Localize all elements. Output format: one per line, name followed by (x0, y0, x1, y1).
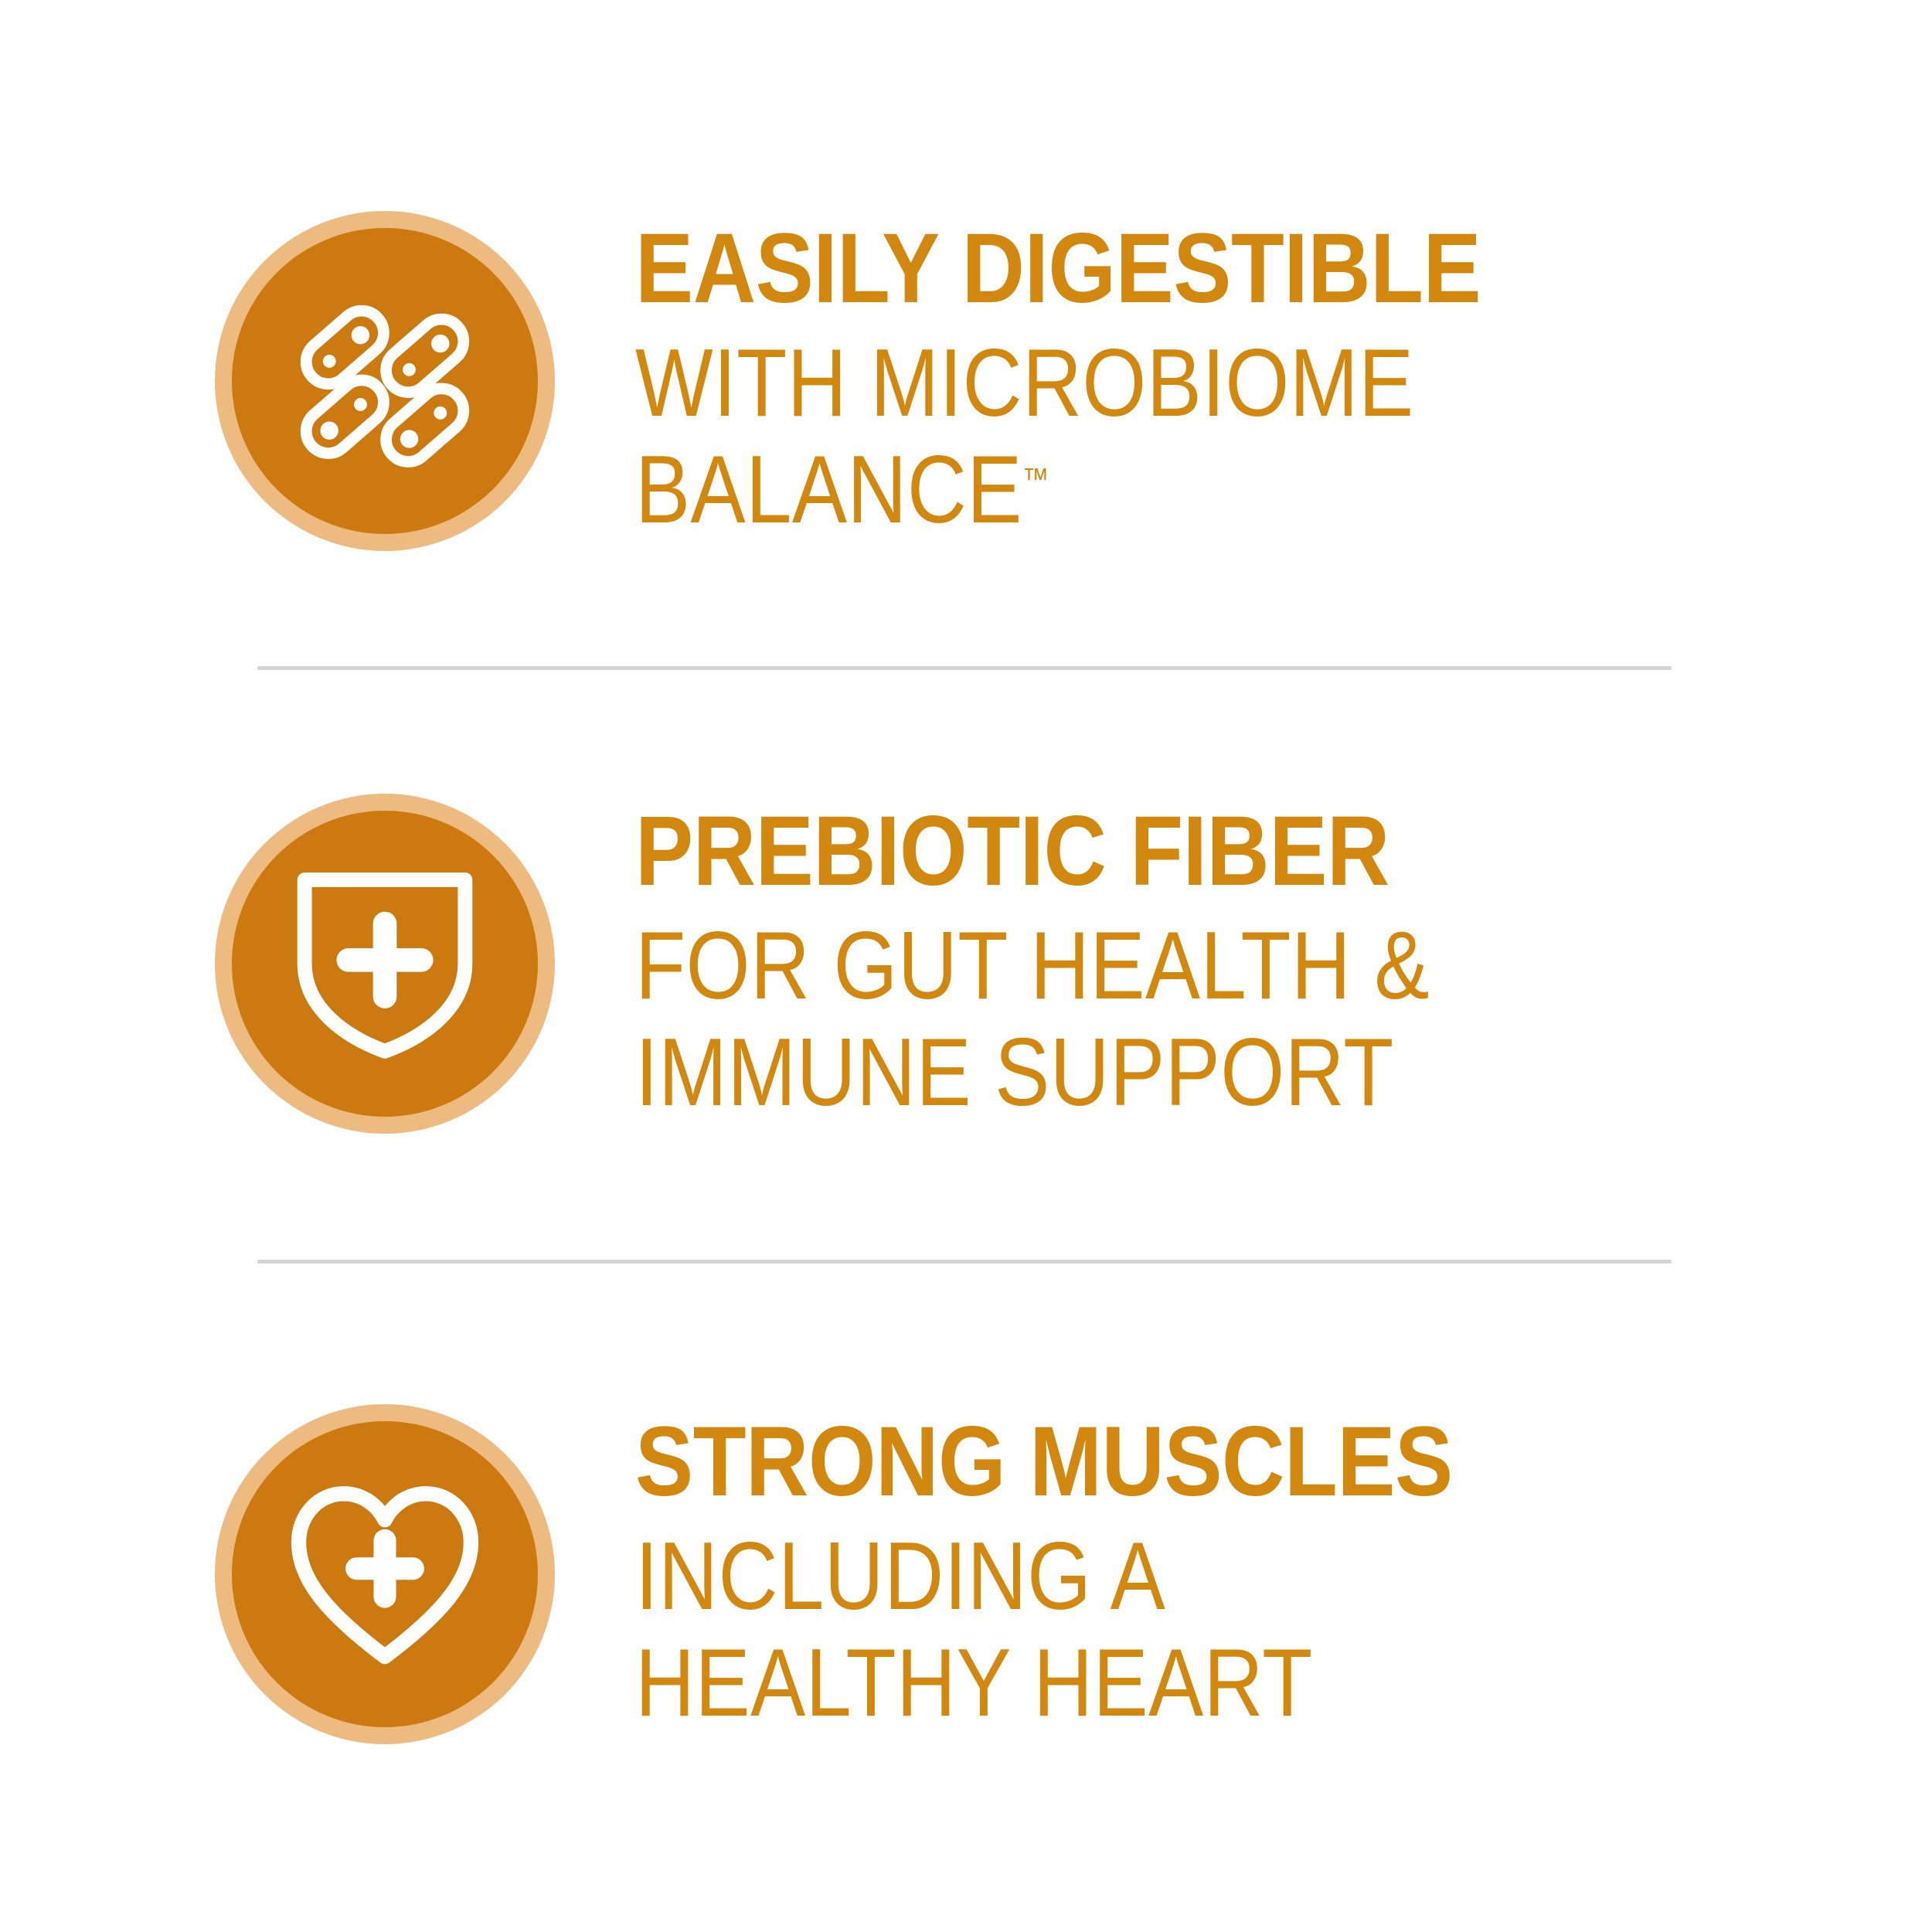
feature-row-prebiotic-fiber: PREBIOTIC FIBER FOR GUT HEALTH & IMMUNE … (0, 782, 1932, 1145)
bacteria-capsules-icon (280, 276, 490, 486)
feature-subline: WITH MICROBIOME (635, 335, 1461, 431)
feature-text-easily-digestible: EASILY DIGESTIBLE WITH MICROBIOME BALANC… (635, 219, 1596, 543)
benefits-infographic: EASILY DIGESTIBLE WITH MICROBIOME BALANC… (0, 0, 1932, 1932)
section-divider (257, 666, 1672, 670)
plus-sign (349, 923, 421, 996)
feature-row-easily-digestible: EASILY DIGESTIBLE WITH MICROBIOME BALANC… (0, 199, 1932, 563)
feature-subline: HEALTHY HEART (635, 1635, 1434, 1731)
feature-text-prebiotic-fiber: PREBIOTIC FIBER FOR GUT HEALTH & IMMUNE … (635, 802, 1559, 1125)
shield-plus-icon (294, 869, 476, 1059)
feature-subline: BALANCE™ (635, 442, 1461, 538)
feature-subline: INCLUDING A (635, 1529, 1434, 1624)
heart-plus-icon (287, 1480, 482, 1668)
plus-sign (357, 1540, 413, 1597)
trademark-symbol: ™ (1022, 463, 1049, 497)
feature-subline-text: BALANCE (635, 437, 1022, 543)
feature-headline: EASILY DIGESTIBLE (635, 219, 1481, 318)
feature-headline: PREBIOTIC FIBER (635, 802, 1448, 901)
feature-headline: STRONG MUSCLES (635, 1413, 1453, 1512)
shield-plus-icon-badge (215, 794, 555, 1134)
feature-text-strong-muscles: STRONG MUSCLES INCLUDING A HEALTHY HEART (635, 1413, 1564, 1736)
feature-subline: FOR GUT HEALTH & (635, 918, 1430, 1014)
feature-subline: IMMUNE SUPPORT (635, 1025, 1430, 1121)
section-divider (257, 1260, 1672, 1264)
heart-plus-icon-badge (215, 1404, 555, 1744)
bacteria-capsules-icon-badge (215, 211, 555, 551)
feature-row-strong-muscles: STRONG MUSCLES INCLUDING A HEALTHY HEART (0, 1393, 1932, 1756)
